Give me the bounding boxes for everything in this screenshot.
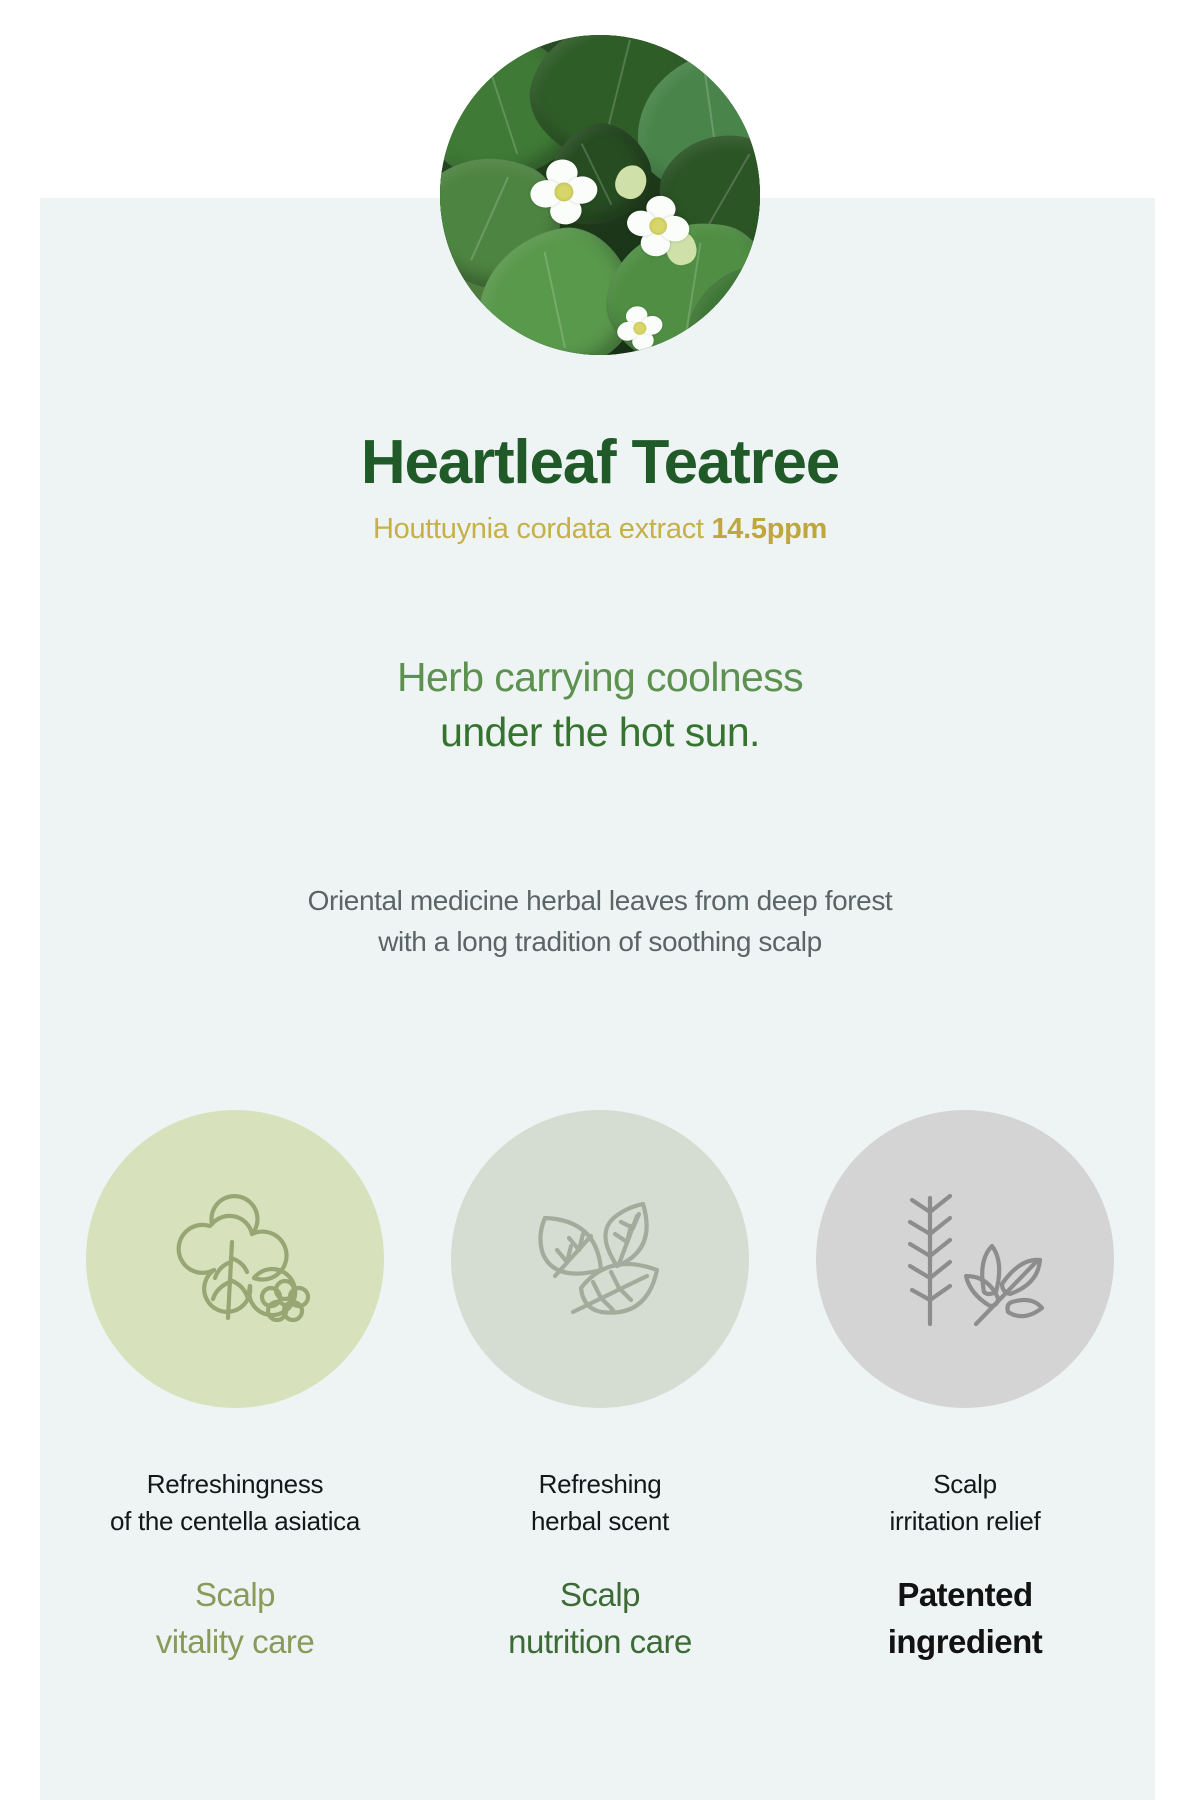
feature-list: Refreshingness of the centella asiatica …	[70, 1110, 1130, 1666]
heartleaf-plant-photo-icon	[440, 35, 760, 355]
description-line-2: with a long tradition of soothing scalp	[0, 921, 1200, 962]
feature-highlight-line-2: nutrition care	[435, 1619, 765, 1666]
feature-highlight: Patented ingredient	[800, 1572, 1130, 1666]
description-line-1: Oriental medicine herbal leaves from dee…	[0, 880, 1200, 921]
feature-caption-line-2: irritation relief	[800, 1503, 1130, 1540]
feature-highlight-line-1: Scalp	[70, 1572, 400, 1619]
feature-caption: Scalp irritation relief	[800, 1466, 1130, 1540]
feature-caption-line-2: of the centella asiatica	[70, 1503, 400, 1540]
hero-plant-photo	[440, 35, 760, 355]
photo-white-flower	[622, 191, 694, 263]
feature-highlight-line-1: Patented	[800, 1572, 1130, 1619]
page-title: Heartleaf Teatree	[0, 430, 1200, 497]
feature-highlight: Scalp vitality care	[70, 1572, 400, 1666]
three-leaves-icon	[515, 1184, 685, 1334]
tagline-line-1: Herb carrying coolness	[0, 650, 1200, 705]
feature-highlight-line-2: vitality care	[70, 1619, 400, 1666]
description: Oriental medicine herbal leaves from dee…	[0, 880, 1200, 963]
tagline-line-2: under the hot sun.	[0, 705, 1200, 760]
rosemary-olive-sprig-icon	[880, 1184, 1050, 1334]
feature-highlight-line-2: ingredient	[800, 1619, 1130, 1666]
title-block: Heartleaf Teatree Houttuynia cordata ext…	[0, 430, 1200, 546]
centella-asiatica-leaf-icon	[150, 1184, 320, 1334]
ingredient-concentration: 14.5ppm	[711, 513, 827, 545]
feature-caption: Refreshingness of the centella asiatica	[70, 1466, 400, 1540]
feature-highlight: Scalp nutrition care	[435, 1572, 765, 1666]
feature-icon-circle	[86, 1110, 384, 1408]
ingredient-subtitle: Houttuynia cordata extract 14.5ppm	[0, 513, 1200, 546]
feature-icon-circle	[451, 1110, 749, 1408]
feature-icon-circle	[816, 1110, 1114, 1408]
feature-item-scalp-nutrition: Refreshing herbal scent Scalp nutrition …	[435, 1110, 765, 1666]
feature-highlight-line-1: Scalp	[435, 1572, 765, 1619]
ingredient-name: Houttuynia cordata extract	[373, 513, 711, 545]
feature-caption: Refreshing herbal scent	[435, 1466, 765, 1540]
feature-caption-line-1: Scalp	[800, 1466, 1130, 1503]
feature-caption-line-1: Refreshing	[435, 1466, 765, 1503]
feature-caption-line-2: herbal scent	[435, 1503, 765, 1540]
feature-item-patented-ingredient: Scalp irritation relief Patented ingredi…	[800, 1110, 1130, 1666]
feature-item-scalp-vitality: Refreshingness of the centella asiatica …	[70, 1110, 400, 1666]
photo-white-flower	[527, 156, 601, 230]
feature-caption-line-1: Refreshingness	[70, 1466, 400, 1503]
tagline: Herb carrying coolness under the hot sun…	[0, 650, 1200, 760]
